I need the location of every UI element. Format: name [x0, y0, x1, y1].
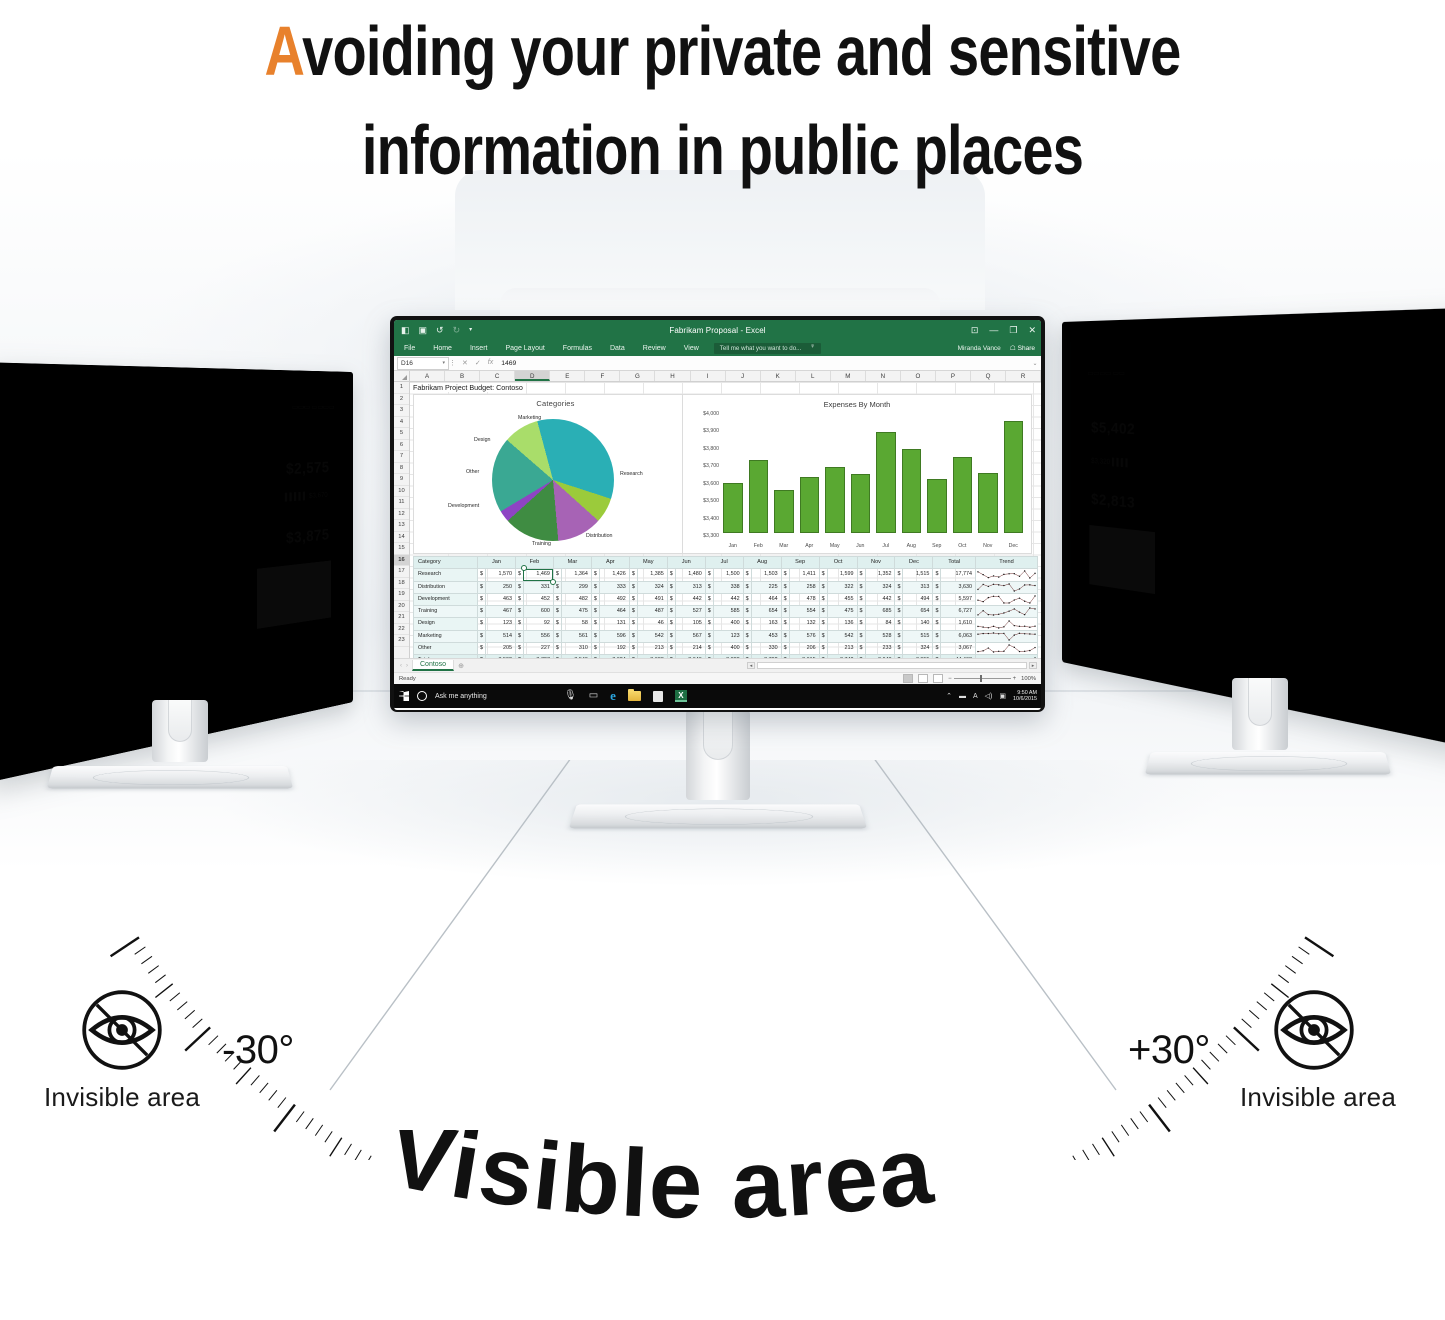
tab-view[interactable]: View — [675, 345, 708, 352]
cell-development-aug[interactable]: 464 — [751, 593, 781, 605]
cell-currency-symbol: $ — [895, 593, 903, 605]
cell-currency-symbol: $ — [781, 606, 789, 618]
x-tick-jul: Jul — [876, 543, 896, 549]
ghost-bars-right: $3,320 ▌▌▌▌ — [1091, 458, 1130, 470]
invisible-area-right-label: Invisible area — [1198, 1082, 1438, 1113]
select-all-corner[interactable] — [394, 371, 410, 381]
tab-insert[interactable]: Insert — [461, 345, 497, 352]
row-header-7[interactable]: 7 — [394, 451, 409, 463]
row-header-13[interactable]: 13 — [394, 520, 409, 532]
excel-title-bar: ◧ ▣ ↺ ↻ ▾ Fabrikam Proposal - Excel ⊡ — … — [394, 320, 1041, 340]
status-text: Ready — [399, 676, 416, 682]
table-header-trend: Trend — [976, 557, 1038, 569]
column-header-h[interactable]: H — [655, 371, 690, 381]
ghost-content-left: ▭▭▭ ▭▭▭▭ — [292, 404, 334, 413]
cell-currency-symbol: $ — [819, 581, 827, 593]
cell-design-jun[interactable]: 105 — [675, 618, 705, 630]
row-header-22[interactable]: 22 — [394, 624, 409, 636]
cell-marketing-jan[interactable]: 514 — [486, 630, 516, 642]
bar-column — [825, 413, 845, 533]
column-header-row[interactable]: ABCDEFGHIJKLMNOPQR — [394, 371, 1041, 382]
row-header-14[interactable]: 14 — [394, 532, 409, 544]
bar-column — [723, 413, 743, 533]
cell-other-jul[interactable]: 400 — [713, 643, 743, 655]
cell-category[interactable]: Marketing — [414, 630, 478, 642]
cell-total-symbol: $ — [933, 630, 941, 642]
cell-research-may[interactable]: 1,385 — [637, 569, 667, 581]
column-header-q[interactable]: Q — [971, 371, 1006, 381]
bar-chart-bars — [723, 413, 1023, 533]
cell-currency-symbol: $ — [895, 569, 903, 581]
show-hidden-icons-icon[interactable]: ⌃ — [946, 692, 952, 700]
cell-training-dec[interactable]: 654 — [903, 606, 933, 618]
share-button[interactable]: ☖Share — [1010, 344, 1035, 352]
bar-feb — [749, 460, 769, 533]
zoom-level[interactable]: 100% — [1021, 676, 1036, 682]
cell-development-apr[interactable]: 492 — [599, 593, 629, 605]
bar-jun — [851, 474, 871, 533]
cell-other-dec[interactable]: 324 — [903, 643, 933, 655]
cell-distribution-aug[interactable]: 225 — [751, 581, 781, 593]
cell-other-jan[interactable]: 205 — [486, 643, 516, 655]
cell-currency-symbol: $ — [667, 569, 675, 581]
cell-marketing-apr[interactable]: 596 — [599, 630, 629, 642]
cell-distribution-may[interactable]: 324 — [637, 581, 667, 593]
status-bar-right[interactable]: − + 100% — [903, 674, 1036, 683]
page-break-view-icon[interactable] — [933, 674, 943, 683]
y-tick-0: $4,000 — [687, 411, 719, 417]
table-row[interactable]: Distribution$250$331$299$333$324$313$338… — [414, 581, 1038, 593]
sheet-prev-icon[interactable]: ‹ — [400, 663, 402, 669]
language-icon[interactable]: A — [973, 693, 978, 700]
tell-me-search[interactable]: Tell me what you want to do... ♀ — [714, 343, 822, 354]
windows-taskbar[interactable]: Ask me anything 🎙 ▭ e X ⌃ ▬ A ◁) ▣ 9: — [394, 684, 1041, 708]
bar-column — [978, 413, 998, 533]
row-header-10[interactable]: 10 — [394, 486, 409, 498]
cell-distribution-nov[interactable]: 324 — [865, 581, 895, 593]
cell-distribution-dec[interactable]: 313 — [903, 581, 933, 593]
cell-development-sep[interactable]: 478 — [789, 593, 819, 605]
cell-distribution-jun[interactable]: 313 — [675, 581, 705, 593]
table-row[interactable]: Marketing$514$556$561$596$542$567$123$45… — [414, 630, 1038, 642]
cell-currency-symbol: $ — [895, 606, 903, 618]
tab-page-layout[interactable]: Page Layout — [496, 345, 553, 352]
cell-design-jul[interactable]: 400 — [713, 618, 743, 630]
cell-distribution-jan[interactable]: 250 — [486, 581, 516, 593]
add-sheet-icon[interactable]: ⊕ — [458, 662, 464, 670]
column-header-j[interactable]: J — [726, 371, 761, 381]
zoom-out-icon[interactable]: − — [948, 676, 952, 682]
bar-chart[interactable]: Expenses By Month $4,000$3,900$3,800$3,7… — [682, 394, 1032, 554]
formula-input[interactable]: 1469 — [499, 360, 1029, 367]
cell-currency-symbol: $ — [478, 630, 486, 642]
scroll-track[interactable] — [757, 662, 1027, 669]
column-header-i[interactable]: I — [691, 371, 726, 381]
row-header-2[interactable]: 2 — [394, 394, 409, 406]
cell-development-nov[interactable]: 442 — [865, 593, 895, 605]
cell-currency-symbol: $ — [819, 630, 827, 642]
ghost-bars-left: ▌▌▌▌▌ $3,670 — [285, 492, 328, 504]
cell-research-aug[interactable]: 1,503 — [751, 569, 781, 581]
scroll-left-icon[interactable]: ◂ — [747, 662, 755, 669]
row-header-12[interactable]: 12 — [394, 509, 409, 521]
cell-category[interactable]: Other — [414, 643, 478, 655]
cell-currency-symbol: $ — [591, 593, 599, 605]
cell-research-apr[interactable]: 1,426 — [599, 569, 629, 581]
bar-chart-x-axis: JanFebMarAprMayJunJulAugSepOctNovDec — [723, 543, 1023, 549]
edge-icon[interactable]: e — [610, 688, 616, 704]
sheet-next-icon[interactable]: › — [406, 663, 408, 669]
cell-marketing-sep[interactable]: 576 — [789, 630, 819, 642]
taskbar-clock[interactable]: 9:50 AM 10/6/2015 — [1013, 690, 1037, 702]
tab-file[interactable]: File — [394, 345, 424, 352]
cell-development-may[interactable]: 491 — [637, 593, 667, 605]
column-header-d[interactable]: D — [515, 371, 550, 381]
cell-distribution-jul[interactable]: 338 — [713, 581, 743, 593]
table-header-may: May — [629, 557, 667, 569]
cell-research-nov[interactable]: 1,352 — [865, 569, 895, 581]
cell-distribution-oct[interactable]: 322 — [827, 581, 857, 593]
cell-currency-symbol: $ — [629, 569, 637, 581]
pie-chart-graphic — [492, 419, 614, 541]
cell-currency-symbol: $ — [667, 643, 675, 655]
ghost-content-right: ▭▭▭▭ ▭▭ — [1088, 370, 1125, 379]
cell-design-aug[interactable]: 163 — [751, 618, 781, 630]
cell-currency-symbol: $ — [553, 593, 561, 605]
cell-design-apr[interactable]: 131 — [599, 618, 629, 630]
cell-marketing-jun[interactable]: 567 — [675, 630, 705, 642]
cell-currency-symbol: $ — [705, 618, 713, 630]
insert-function-icon[interactable]: fx — [488, 359, 493, 367]
restore-icon[interactable]: ❐ — [1009, 326, 1017, 335]
cell-research-mar[interactable]: 1,364 — [561, 569, 591, 581]
row-header-3[interactable]: 3 — [394, 405, 409, 417]
window-title: Fabrikam Proposal - Excel — [394, 326, 1041, 335]
horizontal-scrollbar[interactable]: ◂ ▸ — [747, 662, 1037, 670]
column-header-o[interactable]: O — [901, 371, 936, 381]
cell-other-feb[interactable]: 227 — [523, 643, 553, 655]
cell-currency-symbol: $ — [667, 618, 675, 630]
normal-view-icon[interactable] — [903, 674, 913, 683]
task-view-icon[interactable]: ▭ — [589, 691, 598, 701]
row-header-column[interactable]: 1234567891011121314151617181920212223 — [394, 382, 410, 658]
cell-training-feb[interactable]: 600 — [523, 606, 553, 618]
worksheet-grid[interactable]: 1234567891011121314151617181920212223 Fa… — [394, 382, 1041, 658]
pie-label-development: Development — [448, 503, 479, 509]
cell-sparkline[interactable] — [976, 606, 1038, 618]
y-tick-6: $3,400 — [687, 516, 719, 522]
cell-development-dec[interactable]: 494 — [903, 593, 933, 605]
cell-other-may[interactable]: 213 — [637, 643, 667, 655]
row-header-19[interactable]: 19 — [394, 589, 409, 601]
column-header-k[interactable]: K — [761, 371, 796, 381]
column-header-e[interactable]: E — [550, 371, 585, 381]
cell-training-aug[interactable]: 654 — [751, 606, 781, 618]
table-row[interactable]: Development$463$452$482$492$491$442$442$… — [414, 593, 1038, 605]
cell-research-oct[interactable]: 1,599 — [827, 569, 857, 581]
sparkline-graphic — [976, 643, 1037, 654]
status-bar: Ready − + 100% — [394, 672, 1041, 684]
cell-currency-symbol: $ — [553, 606, 561, 618]
cell-currency-symbol: $ — [515, 606, 523, 618]
row-header-5[interactable]: 5 — [394, 428, 409, 440]
zoom-track[interactable] — [954, 678, 1011, 679]
cell-development-jan[interactable]: 463 — [486, 593, 516, 605]
taskbar-pinned-apps[interactable]: 🎙 ▭ e X — [564, 688, 687, 704]
cortana-icon[interactable] — [417, 691, 427, 701]
column-header-l[interactable]: L — [796, 371, 831, 381]
cell-sparkline[interactable] — [976, 593, 1038, 605]
ribbon-display-options-icon[interactable]: ⊡ — [971, 326, 979, 335]
tab-formulas[interactable]: Formulas — [554, 345, 601, 352]
cell-total-other[interactable]: 3,067 — [941, 643, 976, 655]
cell-other-jun[interactable]: 214 — [675, 643, 705, 655]
cell-research-sep[interactable]: 1,411 — [789, 569, 819, 581]
column-header-a[interactable]: A — [410, 371, 445, 381]
cell-distribution-apr[interactable]: 333 — [599, 581, 629, 593]
column-header-p[interactable]: P — [936, 371, 971, 381]
row-header-11[interactable]: 11 — [394, 497, 409, 509]
page-layout-view-icon[interactable] — [918, 674, 928, 683]
row-header-18[interactable]: 18 — [394, 578, 409, 590]
cell-distribution-sep[interactable]: 258 — [789, 581, 819, 593]
name-box[interactable]: D16 ▾ — [397, 357, 449, 370]
cell-training-jul[interactable]: 585 — [713, 606, 743, 618]
cell-total-symbol: $ — [933, 643, 941, 655]
column-header-g[interactable]: G — [620, 371, 655, 381]
cell-development-jun[interactable]: 442 — [675, 593, 705, 605]
table-row[interactable]: Research$1,570$1,469$1,364$1,426$1,385$1… — [414, 569, 1038, 581]
sheet-tab-contoso[interactable]: Contoso — [412, 660, 454, 671]
system-tray[interactable]: ⌃ ▬ A ◁) ▣ 9:50 AM 10/6/2015 — [946, 690, 1037, 702]
ribbon-tab-bar[interactable]: File Home Insert Page Layout Formulas Da… — [394, 340, 1041, 356]
tab-home[interactable]: Home — [424, 345, 461, 352]
zoom-knob[interactable] — [980, 675, 982, 682]
cell-currency-symbol: $ — [895, 618, 903, 630]
table-body[interactable]: Research$1,570$1,469$1,364$1,426$1,385$1… — [414, 569, 1038, 667]
name-box-chevron-down-icon[interactable]: ▾ — [442, 360, 445, 366]
scroll-right-icon[interactable]: ▸ — [1029, 662, 1037, 669]
row-header-20[interactable]: 20 — [394, 601, 409, 613]
cell-currency-symbol: $ — [743, 643, 751, 655]
cell-training-sep[interactable]: 554 — [789, 606, 819, 618]
cell-marketing-oct[interactable]: 542 — [827, 630, 857, 642]
cell-sparkline[interactable] — [976, 630, 1038, 642]
bar-apr — [800, 477, 820, 533]
cell-design-nov[interactable]: 84 — [865, 618, 895, 630]
cell-currency-symbol: $ — [515, 643, 523, 655]
pie-chart[interactable]: Categories Research Distribution Trainin… — [413, 394, 698, 554]
column-header-r[interactable]: R — [1006, 371, 1041, 381]
cell-marketing-aug[interactable]: 453 — [751, 630, 781, 642]
cell-training-jun[interactable]: 527 — [675, 606, 705, 618]
headline-line-2: information in public places — [145, 101, 1301, 200]
zoom-in-icon[interactable]: + — [1013, 676, 1017, 682]
column-header-b[interactable]: B — [445, 371, 480, 381]
cell-distribution-feb[interactable]: 331 — [523, 581, 553, 593]
action-center-icon[interactable]: ▣ — [999, 692, 1006, 700]
cell-total-marketing[interactable]: 6,063 — [941, 630, 976, 642]
cell-marketing-mar[interactable]: 561 — [561, 630, 591, 642]
row-header-17[interactable]: 17 — [394, 566, 409, 578]
table-header-mar: Mar — [553, 557, 591, 569]
formula-bar[interactable]: D16 ▾ ⋮ ✕ ✓ fx 1469 ⌄ — [394, 356, 1041, 371]
cell-sparkline[interactable] — [976, 618, 1038, 630]
column-header-c[interactable]: C — [480, 371, 515, 381]
cell-a1-title[interactable]: Fabrikam Project Budget: Contoso — [413, 383, 526, 392]
bar-dec — [1004, 421, 1024, 533]
cell-research-dec[interactable]: 1,515 — [903, 569, 933, 581]
cell-marketing-may[interactable]: 542 — [637, 630, 667, 642]
column-header-f[interactable]: F — [585, 371, 620, 381]
table-row[interactable]: Other$205$227$310$192$213$214$400$330$20… — [414, 643, 1038, 655]
cell-design-oct[interactable]: 136 — [827, 618, 857, 630]
cell-development-feb[interactable]: 452 — [523, 593, 553, 605]
x-tick-nov: Nov — [978, 543, 998, 549]
cell-total-development[interactable]: 5,597 — [941, 593, 976, 605]
cell-currency-symbol: $ — [478, 618, 486, 630]
grid-cells[interactable]: Fabrikam Project Budget: Contoso Categor… — [410, 382, 1041, 658]
cell-other-mar[interactable]: 310 — [561, 643, 591, 655]
sheet-tab-bar[interactable]: ‹ › Contoso ⊕ ◂ ▸ — [394, 658, 1041, 672]
table-row[interactable]: Training$467$600$475$464$487$527$585$654… — [414, 606, 1038, 618]
cell-total-symbol: $ — [933, 581, 941, 593]
cell-development-mar[interactable]: 482 — [561, 593, 591, 605]
cell-design-jan[interactable]: 123 — [486, 618, 516, 630]
row-header-21[interactable]: 21 — [394, 612, 409, 624]
cell-development-oct[interactable]: 455 — [827, 593, 857, 605]
invisible-area-left-icon — [80, 988, 164, 1072]
cell-training-may[interactable]: 487 — [637, 606, 667, 618]
formula-bar-buttons[interactable]: ✕ ✓ fx — [456, 359, 499, 367]
table-row[interactable]: Design$123$92$58$131$46$105$400$163$132$… — [414, 618, 1038, 630]
tab-review[interactable]: Review — [634, 345, 675, 352]
center-monitor-screen: ◧ ▣ ↺ ↻ ▾ Fabrikam Proposal - Excel ⊡ — … — [394, 320, 1041, 710]
pie-label-training: Training — [532, 541, 551, 547]
start-icon[interactable] — [399, 691, 409, 701]
row-header-4[interactable]: 4 — [394, 417, 409, 429]
cell-training-oct[interactable]: 475 — [827, 606, 857, 618]
cell-total-symbol: $ — [933, 569, 941, 581]
cell-research-jan[interactable]: 1,570 — [486, 569, 516, 581]
bar-chart-plot — [723, 413, 1023, 533]
cell-other-oct[interactable]: 213 — [827, 643, 857, 655]
cell-research-jun[interactable]: 1,480 — [675, 569, 705, 581]
excel-icon[interactable]: X — [675, 690, 687, 702]
cell-marketing-feb[interactable]: 556 — [523, 630, 553, 642]
formula-bar-expand-chevron-icon[interactable]: ⌄ — [1029, 360, 1041, 367]
window-controls[interactable]: ⊡ — ❐ ✕ — [971, 326, 1036, 335]
column-header-n[interactable]: N — [866, 371, 901, 381]
tab-data[interactable]: Data — [601, 345, 634, 352]
cell-total-design[interactable]: 1,610 — [941, 618, 976, 630]
bar-column — [902, 413, 922, 533]
bar-jan — [723, 483, 743, 533]
close-icon[interactable]: ✕ — [1028, 326, 1036, 335]
cell-other-aug[interactable]: 330 — [751, 643, 781, 655]
cell-category[interactable]: Distribution — [414, 581, 478, 593]
center-monitor: ◧ ▣ ↺ ↻ ▾ Fabrikam Proposal - Excel ⊡ — … — [390, 316, 1045, 712]
cell-research-feb[interactable]: 1,469 — [523, 569, 553, 581]
budget-table[interactable]: CategoryJanFebMarAprMayJunJulAugSepOctNo… — [413, 556, 1038, 668]
cell-currency-symbol: $ — [629, 643, 637, 655]
table-header-dec: Dec — [895, 557, 933, 569]
confirm-icon[interactable]: ✓ — [475, 359, 481, 367]
cell-sparkline[interactable] — [976, 643, 1038, 655]
store-icon[interactable] — [653, 691, 663, 702]
row-header-15[interactable]: 15 — [394, 543, 409, 555]
cell-currency-symbol: $ — [515, 618, 523, 630]
cell-training-apr[interactable]: 464 — [599, 606, 629, 618]
cell-training-jan[interactable]: 467 — [486, 606, 516, 618]
user-name[interactable]: Miranda Vance — [958, 345, 1001, 352]
sparkline-graphic — [976, 619, 1037, 630]
x-tick-jun: Jun — [851, 543, 871, 549]
cell-design-feb[interactable]: 92 — [523, 618, 553, 630]
cell-category[interactable]: Training — [414, 606, 478, 618]
table-header-sep: Sep — [781, 557, 819, 569]
cell-marketing-dec[interactable]: 515 — [903, 630, 933, 642]
cell-category[interactable]: Development — [414, 593, 478, 605]
cell-training-nov[interactable]: 685 — [865, 606, 895, 618]
cancel-icon[interactable]: ✕ — [462, 359, 468, 367]
cell-marketing-jul[interactable]: 123 — [713, 630, 743, 642]
cell-marketing-nov[interactable]: 528 — [865, 630, 895, 642]
volume-icon[interactable]: ◁) — [985, 692, 993, 700]
taskbar-search-label[interactable]: Ask me anything — [435, 693, 487, 700]
pie-chart-title: Categories — [414, 395, 697, 408]
cell-research-jul[interactable]: 1,500 — [713, 569, 743, 581]
cell-development-jul[interactable]: 442 — [713, 593, 743, 605]
cell-currency-symbol: $ — [895, 643, 903, 655]
cell-currency-symbol: $ — [591, 630, 599, 642]
cell-other-sep[interactable]: 206 — [789, 643, 819, 655]
microphone-icon[interactable]: 🎙 — [564, 691, 577, 701]
minimize-icon[interactable]: — — [989, 326, 998, 335]
row-header-9[interactable]: 9 — [394, 474, 409, 486]
cell-total-training[interactable]: 6,727 — [941, 606, 976, 618]
account-area[interactable]: Miranda Vance ☖Share — [958, 344, 1035, 352]
row-header-8[interactable]: 8 — [394, 463, 409, 475]
column-header-m[interactable]: M — [831, 371, 866, 381]
row-header-16[interactable]: 16 — [394, 555, 409, 567]
cell-design-dec[interactable]: 140 — [903, 618, 933, 630]
network-icon[interactable]: ▬ — [959, 693, 966, 700]
cell-category[interactable]: Design — [414, 618, 478, 630]
cell-design-mar[interactable]: 58 — [561, 618, 591, 630]
formula-bar-expand-icon[interactable]: ⋮ — [449, 359, 456, 367]
row-header-6[interactable]: 6 — [394, 440, 409, 452]
file-explorer-icon[interactable] — [628, 691, 641, 701]
cell-design-sep[interactable]: 132 — [789, 618, 819, 630]
zoom-slider[interactable]: − + — [948, 676, 1016, 682]
cell-training-mar[interactable]: 475 — [561, 606, 591, 618]
row-header-1[interactable]: 1 — [394, 382, 409, 394]
cell-sparkline[interactable] — [976, 569, 1038, 581]
cell-currency-symbol: $ — [591, 618, 599, 630]
cell-currency-symbol: $ — [629, 581, 637, 593]
cell-other-nov[interactable]: 233 — [865, 643, 895, 655]
row-header-23[interactable]: 23 — [394, 635, 409, 647]
cell-category[interactable]: Research — [414, 569, 478, 581]
cell-total-distribution[interactable]: 3,630 — [941, 581, 976, 593]
cell-sparkline[interactable] — [976, 581, 1038, 593]
cell-other-apr[interactable]: 192 — [599, 643, 629, 655]
cell-total-research[interactable]: 17,774 — [941, 569, 976, 581]
pie-label-research: Research — [620, 471, 643, 477]
cell-design-may[interactable]: 46 — [637, 618, 667, 630]
cell-distribution-mar[interactable]: 299 — [561, 581, 591, 593]
